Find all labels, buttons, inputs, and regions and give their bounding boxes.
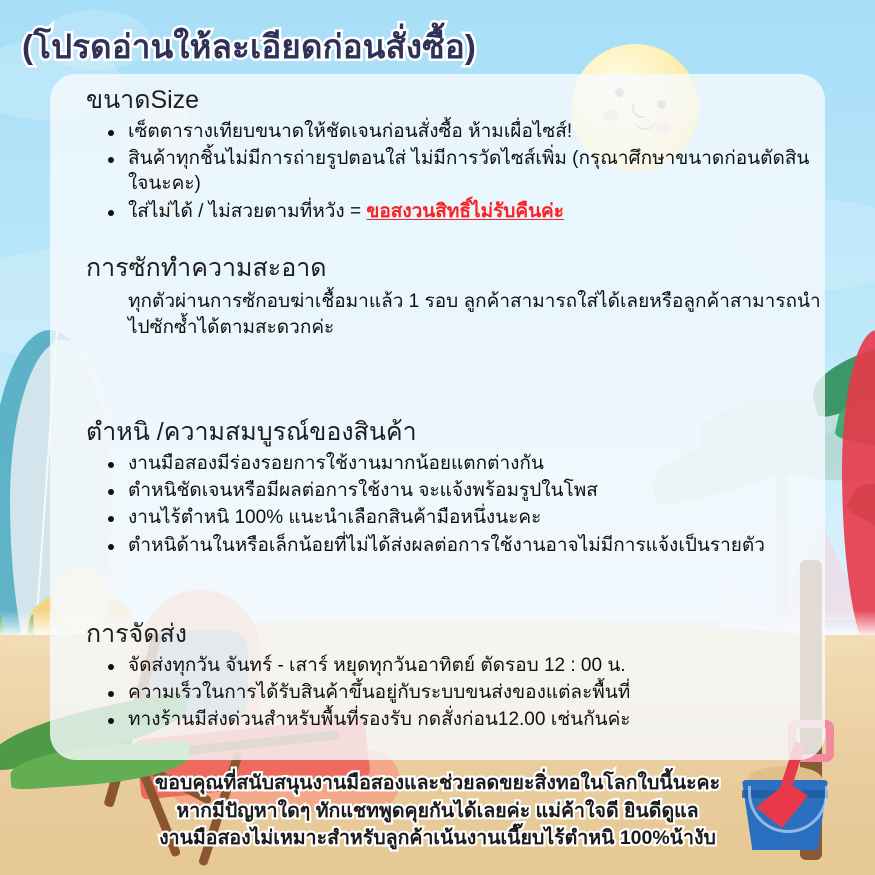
list-item-text: ความเร็วในการได้รับสินค้าขึ้นอยู่กับระบบ… (128, 682, 630, 703)
list-item-text: ใส่ไม่ได้ / ไม่สวยตามที่หวัง = (128, 201, 366, 222)
list-item-text: ตำหนิชัดเจนหรือมีผลต่อการใช้งาน จะแจ้งพร… (128, 480, 598, 501)
list-item-text: เซ็ตตารางเทียบขนาดให้ชัดเจนก่อนสั่งซื้อ … (128, 121, 572, 142)
list-item-text: ตำหนิด้านในหรือเล็กน้อยที่ไม่ได้ส่งผลต่อ… (128, 535, 765, 556)
info-card: ขนาดSize เซ็ตตารางเทียบขนาดให้ชัดเจนก่อน… (50, 74, 825, 760)
list-item-text: งานมือสองมีร่องรอยการใช้งานมากน้อยแตกต่า… (128, 453, 544, 474)
size-bullet-list: เซ็ตตารางเทียบขนาดให้ชัดเจนก่อนสั่งซื้อ … (50, 119, 825, 224)
list-item-text: จัดส่งทุกวัน จันทร์ - เสาร์ หยุดทุกวันอา… (128, 655, 626, 676)
list-item: ตำหนิด้านในหรือเล็กน้อยที่ไม่ได้ส่งผลต่อ… (108, 533, 825, 558)
footer-message: ขอบคุณที่สนับสนุนงานมือสองและช่วยลดขยะสิ… (0, 770, 875, 853)
list-item: สินค้าทุกชิ้นไม่มีการถ่ายรูปตอนใส่ ไม่มี… (108, 146, 825, 197)
list-item-text: สินค้าทุกชิ้นไม่มีการถ่ายรูปตอนใส่ ไม่มี… (128, 148, 809, 194)
section-shipping: การจัดส่ง จัดส่งทุกวัน จันทร์ - เสาร์ หย… (50, 620, 825, 735)
footer-line: ขอบคุณที่สนับสนุนงานมือสองและช่วยลดขยะสิ… (0, 770, 875, 798)
infographic-canvas: (โปรดอ่านให้ละเอียดก่อนสั่งซื้อ) ขนาดSiz… (0, 0, 875, 875)
list-item: ใส่ไม่ได้ / ไม่สวยตามที่หวัง = ขอสงวนสิท… (108, 199, 825, 224)
defects-bullet-list: งานมือสองมีร่องรอยการใช้งานมากน้อยแตกต่า… (50, 451, 825, 558)
section-size: ขนาดSize เซ็ตตารางเทียบขนาดให้ชัดเจนก่อน… (50, 86, 825, 226)
section-heading: ตำหนิ /ความสมบูรณ์ของสินค้า (50, 418, 825, 447)
list-item: จัดส่งทุกวัน จันทร์ - เสาร์ หยุดทุกวันอา… (108, 653, 825, 678)
shipping-bullet-list: จัดส่งทุกวัน จันทร์ - เสาร์ หยุดทุกวันอา… (50, 653, 825, 733)
washing-paragraph: ทุกตัวผ่านการซักอบฆ่าเชื้อมาแล้ว 1 รอบ ล… (50, 289, 825, 341)
list-item: ความเร็วในการได้รับสินค้าขึ้นอยู่กับระบบ… (108, 680, 825, 705)
section-heading: การจัดส่ง (50, 620, 825, 649)
list-item-text: งานไร้ตำหนิ 100% แนะนำเลือกสินค้ามือหนึ่… (128, 507, 541, 528)
list-item: งานไร้ตำหนิ 100% แนะนำเลือกสินค้ามือหนึ่… (108, 505, 825, 530)
list-item: งานมือสองมีร่องรอยการใช้งานมากน้อยแตกต่า… (108, 451, 825, 476)
section-washing: การซักทำความสะอาด ทุกตัวผ่านการซักอบฆ่าเ… (50, 254, 825, 340)
footer-line: งานมือสองไม่เหมาะสำหรับลูกค้าเน้นงานเนี๊… (0, 825, 875, 853)
section-heading: การซักทำความสะอาด (50, 254, 825, 283)
section-heading: ขนาดSize (50, 86, 825, 115)
list-item: ทางร้านมีส่งด่วนสำหรับพื้นที่รองรับ กดสั… (108, 707, 825, 732)
list-item: เซ็ตตารางเทียบขนาดให้ชัดเจนก่อนสั่งซื้อ … (108, 119, 825, 144)
list-item: ตำหนิชัดเจนหรือมีผลต่อการใช้งาน จะแจ้งพร… (108, 478, 825, 503)
footer-line: หากมีปัญหาใดๆ ทักแชทพูดคุยกันได้เลยค่ะ แ… (0, 798, 875, 826)
section-defects: ตำหนิ /ความสมบูรณ์ของสินค้า งานมือสองมีร… (50, 418, 825, 560)
page-title: (โปรดอ่านให้ละเอียดก่อนสั่งซื้อ) (22, 20, 476, 73)
no-refund-emphasis: ขอสงวนสิทธิ์ไม่รับคืนค่ะ (366, 201, 564, 222)
list-item-text: ทางร้านมีส่งด่วนสำหรับพื้นที่รองรับ กดสั… (128, 709, 631, 730)
